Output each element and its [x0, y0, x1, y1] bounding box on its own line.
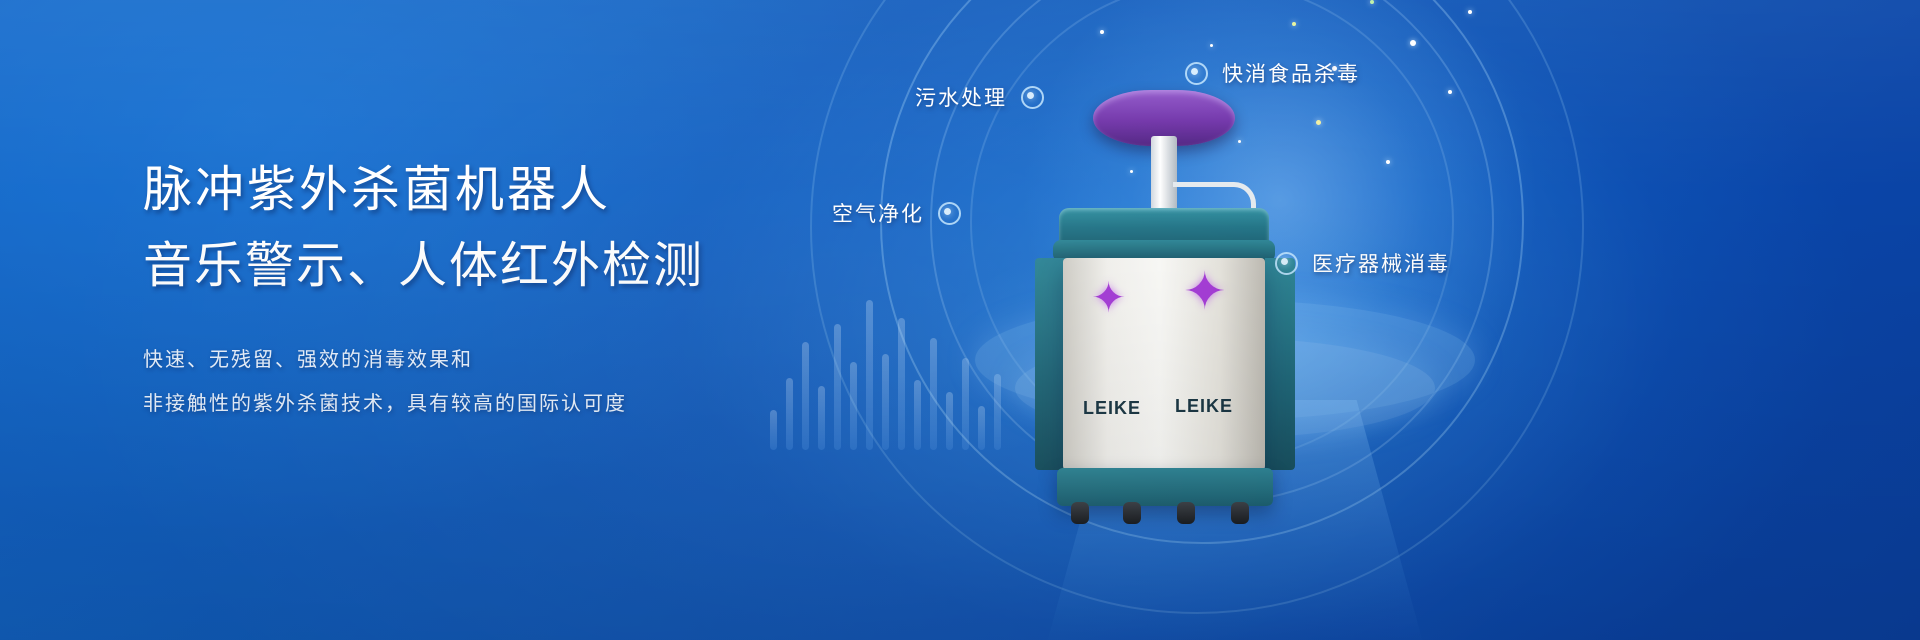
callout-label: 空气净化 — [832, 198, 924, 228]
callout-medical-device-disinfection[interactable]: 医疗器械消毒 — [1275, 248, 1450, 278]
device-side-panel-right — [1265, 258, 1295, 470]
callout-label: 污水处理 — [915, 82, 1007, 112]
circle-node-icon — [938, 202, 961, 225]
device-wheel — [1123, 502, 1141, 524]
device-brand-left: LEIKE — [1083, 398, 1141, 419]
product-banner: 脉冲紫外杀菌机器人 音乐警示、人体红外检测 快速、无残留、强效的消毒效果和 非接… — [0, 0, 1920, 640]
purple-sparkle-icon: ✦ — [1091, 282, 1125, 316]
device-wheel — [1177, 502, 1195, 524]
circle-node-icon — [1021, 86, 1044, 109]
device-wheel — [1071, 502, 1089, 524]
product-scene: ✦ ✦ LEIKE LEIKE 污水处理 快消食品杀毒 空气净化 医疗器械消毒 — [820, 0, 1920, 640]
purple-sparkle-icon: ✦ — [1183, 276, 1217, 310]
circle-node-icon — [1185, 62, 1208, 85]
banner-copy: 脉冲紫外杀菌机器人 音乐警示、人体红外检测 快速、无残留、强效的消毒效果和 非接… — [143, 152, 903, 426]
headline-line-1: 脉冲紫外杀菌机器人 — [143, 152, 903, 228]
uv-robot-device: ✦ ✦ LEIKE LEIKE — [1035, 90, 1295, 510]
callout-fmcg-food-sterilization[interactable]: 快消食品杀毒 — [1185, 58, 1360, 88]
device-base — [1057, 468, 1273, 506]
subtitle-line-1: 快速、无残留、强效的消毒效果和 — [143, 338, 903, 382]
callout-air-purification[interactable]: 空气净化 — [832, 198, 961, 228]
callout-label: 医疗器械消毒 — [1312, 248, 1450, 278]
device-wheel — [1231, 502, 1249, 524]
circle-node-icon — [1275, 252, 1298, 275]
device-side-panel-left — [1035, 258, 1065, 470]
headline-line-2: 音乐警示、人体红外检测 — [143, 228, 903, 304]
callout-waste-water-treatment[interactable]: 污水处理 — [915, 82, 1044, 112]
callout-label: 快消食品杀毒 — [1222, 58, 1360, 88]
subtitle-line-2: 非接触性的紫外杀菌技术，具有较高的国际认可度 — [143, 382, 903, 426]
device-brand-right: LEIKE — [1175, 396, 1233, 417]
